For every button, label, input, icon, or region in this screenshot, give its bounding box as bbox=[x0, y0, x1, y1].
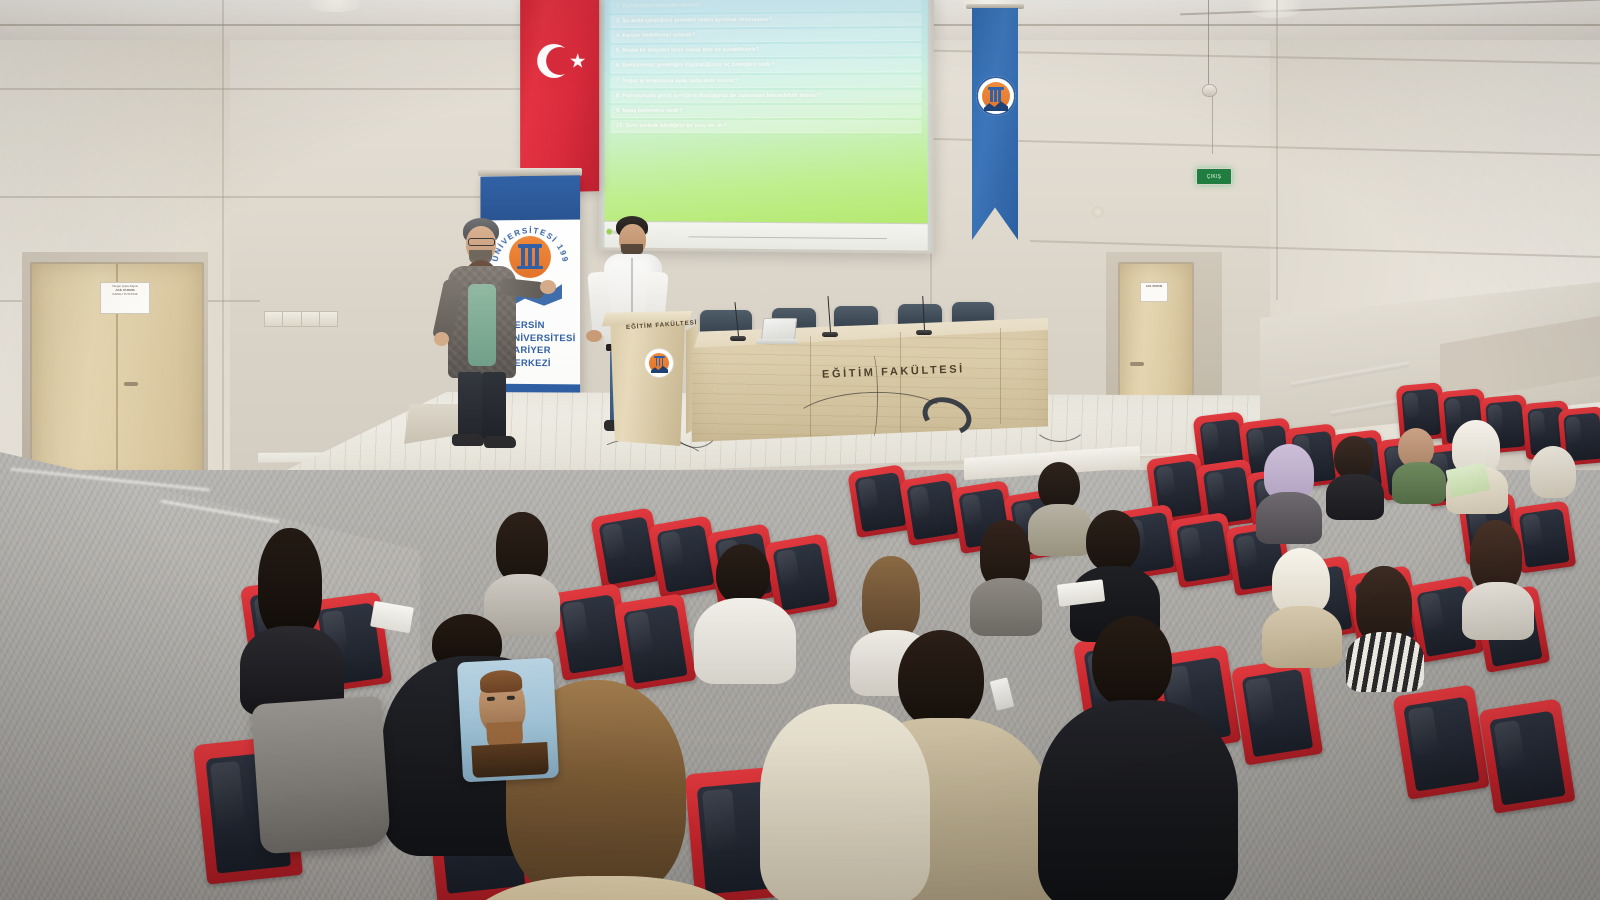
seat[interactable] bbox=[1169, 512, 1237, 588]
hair bbox=[258, 528, 322, 638]
slide-line: 3. Şu anda çalıştığınız şirketten neden … bbox=[610, 13, 921, 28]
slide-line: 10. Sizin sormak istediğiniz bir soru va… bbox=[610, 120, 921, 132]
auditorium-scene: ÇIKIŞ Yangın Çıkış Kapısı ACİL DURUM KAP… bbox=[0, 0, 1600, 900]
hand-left bbox=[434, 332, 449, 346]
slide-line: 9. Maaş beklentiniz nedir? bbox=[610, 105, 921, 117]
leg-left bbox=[458, 372, 482, 440]
hijab bbox=[1530, 446, 1576, 498]
exit-sign: ÇIKIŞ bbox=[1196, 168, 1232, 185]
seat[interactable] bbox=[1478, 698, 1575, 814]
leg-right bbox=[482, 372, 506, 440]
seat[interactable] bbox=[614, 593, 697, 691]
torso bbox=[1392, 462, 1446, 504]
turkish-flag bbox=[520, 0, 599, 193]
hair bbox=[496, 512, 548, 582]
slide-line: 5. Başka bir adaydan farklı olarak bize … bbox=[610, 43, 921, 57]
torso bbox=[694, 598, 796, 684]
exit-sign-stem bbox=[1212, 96, 1213, 154]
presenter-senior bbox=[440, 218, 536, 458]
wall-corner bbox=[222, 0, 224, 470]
torso bbox=[1462, 582, 1534, 640]
portrait-eye bbox=[507, 696, 515, 700]
table-seam bbox=[1000, 328, 1001, 424]
slide-line: 8. Patronunuzla görüş ayrılığına düştüğü… bbox=[610, 89, 921, 102]
seat[interactable] bbox=[1231, 657, 1323, 766]
head bbox=[716, 544, 770, 604]
torso bbox=[1262, 606, 1342, 668]
wall-seam bbox=[0, 88, 520, 90]
podium bbox=[607, 318, 685, 446]
shoe-left bbox=[452, 434, 484, 446]
head bbox=[1092, 616, 1172, 708]
hand-right bbox=[540, 280, 556, 294]
slide-line: 6. Geliştirmeniz gerektiğini düşündüğünü… bbox=[610, 59, 921, 73]
wall-switch-panel[interactable] bbox=[264, 311, 338, 327]
exit-sign-label: ÇIKIŞ bbox=[1207, 174, 1222, 180]
torso bbox=[1346, 632, 1424, 692]
slide-line: 1. Kendinizden bahseder misiniz? bbox=[610, 0, 921, 12]
smoke-detector-icon bbox=[1092, 206, 1104, 218]
head bbox=[898, 630, 984, 728]
rollup-header-bar bbox=[480, 175, 580, 220]
crescent-cut bbox=[546, 47, 574, 75]
slide-footer-rule bbox=[689, 236, 887, 239]
torso bbox=[1038, 700, 1238, 900]
backpack bbox=[457, 658, 559, 783]
shoe-right bbox=[484, 436, 516, 448]
seat[interactable] bbox=[1392, 684, 1489, 800]
portrait-hair bbox=[479, 669, 522, 693]
wall-seam bbox=[0, 196, 520, 198]
hand-left bbox=[586, 330, 602, 342]
hair bbox=[862, 556, 920, 640]
door-sign-right: ACİL DURUM bbox=[1140, 282, 1168, 302]
stage-cable bbox=[866, 352, 878, 440]
sweater bbox=[468, 284, 496, 366]
security-camera-icon bbox=[1202, 84, 1217, 97]
door-sign-line: ACİL DURUM bbox=[1146, 285, 1162, 288]
hijab bbox=[1272, 548, 1330, 614]
slide-line: 4. Kariyer hedefleriniz nelerdir? bbox=[610, 28, 921, 42]
podium-emblem bbox=[644, 348, 674, 378]
stage-cable bbox=[1032, 400, 1088, 442]
torso bbox=[1326, 474, 1384, 520]
laptop-base[interactable] bbox=[756, 339, 798, 344]
portrait-coat bbox=[471, 742, 549, 778]
head bbox=[1086, 510, 1140, 572]
mersin-university-logo bbox=[976, 76, 1016, 116]
wall-corner bbox=[1276, 0, 1278, 300]
draped-coat bbox=[251, 696, 391, 855]
torso bbox=[1256, 492, 1322, 544]
head bbox=[1038, 462, 1080, 510]
camera-cable bbox=[1208, 0, 1209, 86]
door-sign-left: Yangın Çıkış Kapısı ACİL DURUM KAPALI TU… bbox=[100, 282, 150, 314]
slide-content: 1. Kendinizden bahseder misiniz? 3. Şu a… bbox=[604, 0, 927, 224]
university-pennant bbox=[972, 8, 1018, 240]
portrait-eye bbox=[487, 697, 495, 701]
torso bbox=[760, 704, 930, 900]
slide-line: 7. Yoğun iş temposuna ayak uydurabilir m… bbox=[610, 74, 921, 87]
glasses-icon bbox=[468, 238, 495, 246]
torso bbox=[1028, 504, 1092, 556]
torso bbox=[970, 578, 1042, 636]
door-sign-line: KAPALI TUTUNUZ bbox=[112, 292, 137, 296]
